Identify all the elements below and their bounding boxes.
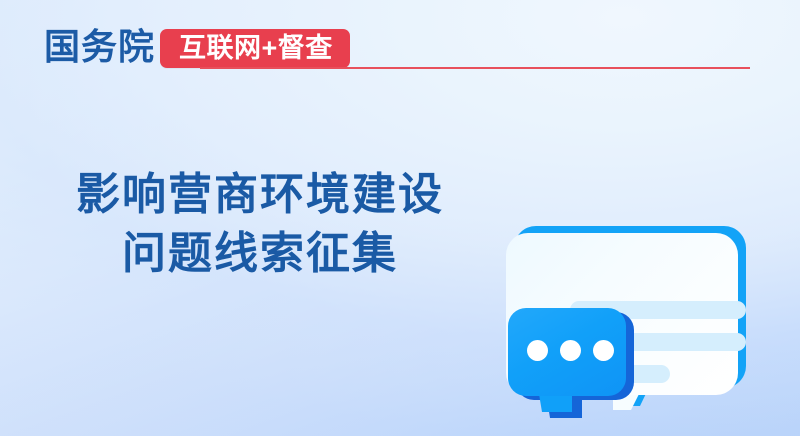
typing-dot-2 (560, 340, 581, 361)
header-divider-rule (200, 67, 750, 69)
page-title: 影响营商环境建设 问题线索征集 (0, 170, 520, 279)
internet-plus-supervision-badge[interactable]: 互联网+督查 (160, 29, 350, 68)
banner-header: 国务院 互联网+督查 (0, 0, 800, 96)
chat-bubbles-illustration (470, 200, 800, 436)
typing-dot-1 (527, 340, 548, 361)
gov-council-label: 国务院 (44, 26, 155, 68)
badge-label: 互联网+督查 (179, 35, 333, 62)
promo-banner: 国务院 互联网+督查 影响营商环境建设 问题线索征集 (0, 0, 800, 436)
typing-dot-3 (593, 340, 614, 361)
page-title-line-1: 影响营商环境建设 (0, 170, 520, 220)
page-title-line-2: 问题线索征集 (0, 229, 520, 279)
